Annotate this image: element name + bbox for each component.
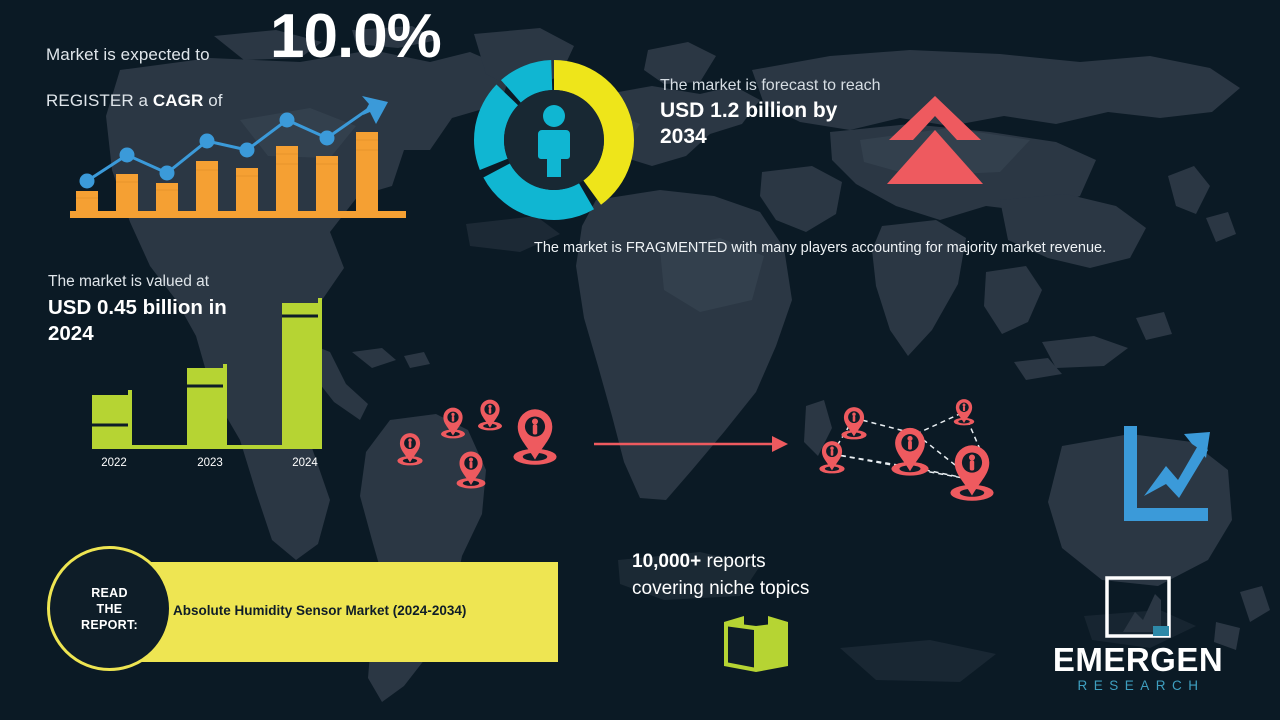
- reports-count-line2: covering niche topics: [632, 578, 809, 599]
- market-growth-chart: [70, 88, 406, 218]
- green-chart-tick-2022: 2022: [101, 457, 127, 469]
- map-pin-person-icon: [478, 400, 502, 431]
- cagr-caption-line1: Market is expected to: [46, 45, 210, 64]
- trend-arrow-icon: [362, 96, 388, 124]
- forecast-value: USD 1.2 billion by 2034: [660, 98, 886, 150]
- right-arrow-icon: [592, 424, 792, 464]
- map-pin-person-icon: [441, 408, 465, 439]
- reports-count-text: 10,000+ reports covering niche topics: [632, 548, 809, 602]
- emergen-research-logo: EMERGEN RESEARCH: [1020, 576, 1256, 704]
- map-pin-person-icon: [954, 399, 974, 425]
- map-pin-person-icon: [891, 428, 928, 476]
- cta-line-2: THE: [97, 602, 123, 616]
- map-pin-person-icon: [841, 407, 866, 439]
- logo-square-icon: [1105, 576, 1171, 638]
- logo-name: EMERGEN: [1020, 643, 1256, 677]
- double-chevron-up-icon: [885, 96, 985, 184]
- map-pin-person-icon: [397, 433, 422, 465]
- green-chart-axis-3: [318, 298, 322, 449]
- green-chart-baseline: [92, 445, 322, 449]
- fragmented-market-note: The market is FRAGMENTED with many playe…: [534, 238, 1224, 259]
- growth-chart-icon: [1118, 424, 1214, 526]
- green-chart-axis-2: [223, 364, 227, 449]
- map-pin-person-icon: [513, 409, 556, 464]
- map-pin-person-icon: [457, 452, 486, 489]
- read-the-report-button[interactable]: READ THE REPORT:: [47, 546, 172, 671]
- green-chart-axis-1: [128, 390, 132, 449]
- map-pin-person-icon: [950, 445, 993, 500]
- cta-line-3: REPORT:: [81, 618, 138, 632]
- valued-caption: The market is valued at: [48, 272, 278, 292]
- reports-count-suffix: reports: [701, 551, 765, 572]
- map-pin-person-icon: [819, 441, 844, 473]
- report-title: Absolute Humidity Sensor Market (2024-20…: [173, 602, 553, 620]
- read-the-report-label: READ THE REPORT:: [81, 585, 138, 633]
- chart-baseline: [70, 211, 406, 218]
- infographic-canvas: Market is expected to REGISTER a CAGR of…: [0, 0, 1280, 720]
- green-chart-tick-2024: 2024: [292, 457, 318, 469]
- historic-market-value-chart: 2022 2023 2024: [70, 290, 350, 475]
- cagr-value: 10.0%: [270, 6, 441, 68]
- chart-bars: [76, 132, 378, 211]
- reports-count-block: 10,000+ reports covering niche topics: [632, 548, 809, 602]
- pin-cluster-fragmented: [382, 382, 594, 504]
- cta-line-1: READ: [91, 586, 128, 600]
- open-book-icon: [722, 614, 790, 674]
- forecast-block: The market is forecast to reach USD 1.2 …: [660, 75, 886, 150]
- market-share-donut: [466, 52, 642, 228]
- pin-cluster-consolidated: [806, 382, 1022, 504]
- green-chart-tick-2023: 2023: [197, 457, 223, 469]
- logo-subtitle: RESEARCH: [1020, 677, 1256, 695]
- reports-count-number: 10,000+: [632, 551, 701, 572]
- forecast-caption: The market is forecast to reach: [660, 75, 886, 96]
